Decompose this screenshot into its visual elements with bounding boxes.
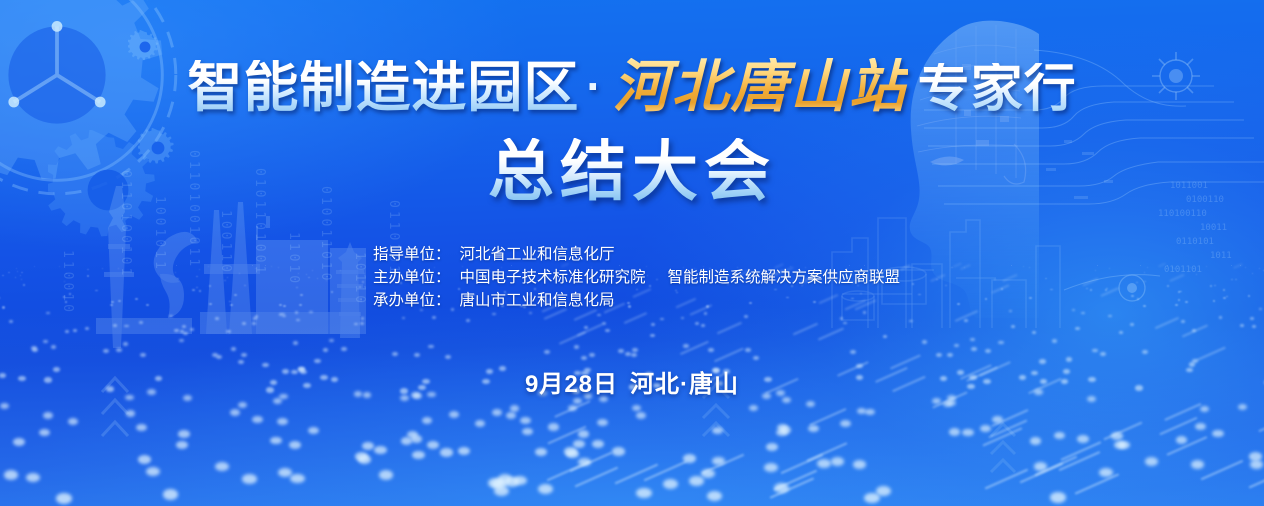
event-date: 9月28日 [525,364,618,399]
organizer-row: 指导单位：河北省工业和信息化厅 [373,243,900,266]
event-banner: 1011001 0100110 110100110 10011 0110101 … [0,0,1264,506]
organizer-label: 主办单位： [373,266,451,289]
organizer-row: 承办单位：唐山市工业和信息化局 [373,289,900,312]
organizer-value: 河北省工业和信息化厅 [460,243,615,266]
subtitle-row: 总结大会 [0,138,1264,204]
organizer-row: 主办单位：中国电子技术标准化研究院智能制造系统解决方案供应商联盟 [373,266,900,289]
organizer-value: 中国电子技术标准化研究院 [460,266,646,289]
title-separator: · [586,63,601,109]
organizer-value: 唐山市工业和信息化局 [460,289,615,312]
event-date-bar: 9月28日河北·唐山 [0,364,1264,399]
organizer-label: 承办单位： [373,289,451,312]
organizer-value-secondary: 智能制造系统解决方案供应商联盟 [668,266,901,289]
organizer-label: 指导单位： [373,243,451,266]
title-main: 智能制造进园区 [187,60,579,115]
subtitle-big: 总结大会 [488,138,776,204]
title-highlight: 河北唐山站 [613,58,908,115]
banner-content: 智能制造进园区 · 河北唐山站 专家行 总结大会 指导单位：河北省工业和信息化厅… [0,0,1264,506]
main-title-row: 智能制造进园区 · 河北唐山站 专家行 [0,58,1264,115]
event-city: 河北·唐山 [630,364,739,399]
title-tail: 专家行 [918,63,1077,115]
organizer-list: 指导单位：河北省工业和信息化厅 主办单位：中国电子技术标准化研究院智能制造系统解… [373,243,900,312]
